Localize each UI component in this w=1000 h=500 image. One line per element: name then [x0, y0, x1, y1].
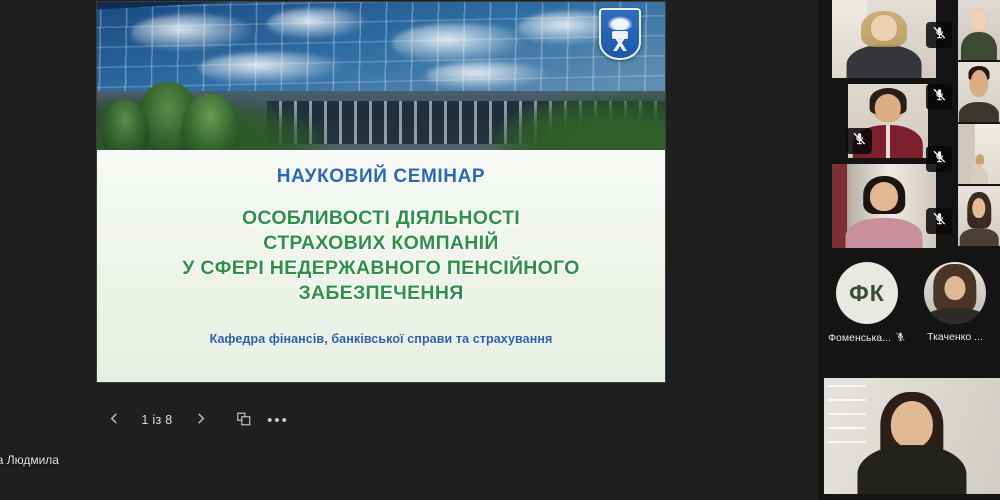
participant-video [958, 124, 1000, 184]
chevron-right-icon [193, 411, 208, 429]
slide-kicker: НАУКОВИЙ СЕМІНАР [97, 166, 665, 188]
mic-muted-badge [846, 128, 872, 154]
slide-title-line: ОСОБЛИВОСТІ ДІЯЛЬНОСТІ [107, 206, 655, 231]
slide-photo [97, 2, 665, 150]
slide-counter: 1 із 8 [131, 413, 183, 427]
participant-name-row: Ткаченко ... [914, 331, 996, 343]
participant-tile[interactable] [824, 378, 1000, 494]
participant-tile[interactable] [958, 0, 1000, 60]
shared-content-stage: НАУКОВИЙ СЕМІНАР ОСОБЛИВОСТІ ДІЯЛЬНОСТІ … [0, 0, 818, 500]
participant-tile[interactable] [958, 62, 1000, 122]
mic-muted-icon [895, 331, 906, 345]
slide-department: Кафедра фінансів, банківської справи та … [97, 332, 665, 346]
participant-video [958, 0, 1000, 60]
presenter-name-label: овцева Людмила [0, 453, 59, 467]
mic-muted-icon [932, 87, 947, 107]
slide-title-line: СТРАХОВИХ КОМПАНІЙ [107, 231, 655, 256]
slide-title-line: ЗАБЕЗПЕЧЕННЯ [107, 281, 655, 306]
participant-video [832, 0, 936, 78]
mic-muted-icon [852, 131, 867, 151]
participant-video [824, 378, 1000, 494]
slide-toolbar: 1 із 8 ••• [97, 404, 295, 436]
mic-muted-badge [926, 208, 952, 234]
participants-sidebar[interactable]: ФК Фоменська... [818, 0, 1000, 500]
previous-slide-button[interactable] [97, 404, 131, 436]
pop-out-icon [236, 411, 252, 430]
greenery-right [483, 85, 665, 150]
participant-avatar-tile[interactable]: Ткаченко ... [914, 262, 996, 343]
mic-muted-badge [926, 22, 952, 48]
mic-muted-icon [932, 211, 947, 231]
more-options-button[interactable]: ••• [261, 404, 295, 436]
participant-video [958, 186, 1000, 246]
slide-text-area: НАУКОВИЙ СЕМІНАР ОСОБЛИВОСТІ ДІЯЛЬНОСТІ … [97, 150, 665, 382]
slide-title: ОСОБЛИВОСТІ ДІЯЛЬНОСТІ СТРАХОВИХ КОМПАНІ… [97, 206, 665, 306]
participant-tile[interactable] [832, 0, 936, 78]
participant-tile[interactable] [958, 186, 1000, 246]
participant-name: Фоменська... [828, 332, 891, 344]
pop-out-slide-button[interactable] [227, 404, 261, 436]
meeting-window: НАУКОВИЙ СЕМІНАР ОСОБЛИВОСТІ ДІЯЛЬНОСТІ … [0, 0, 1000, 500]
participant-video [924, 262, 986, 324]
mic-muted-icon [932, 149, 947, 169]
next-slide-button[interactable] [183, 404, 217, 436]
mic-muted-badge [926, 146, 952, 172]
slide-title-line: У СФЕРІ НЕДЕРЖАВНОГО ПЕНСІЙНОГО [107, 256, 655, 281]
participant-name: Ткаченко ... [927, 331, 983, 343]
participant-video [958, 62, 1000, 122]
participant-tile[interactable] [832, 164, 936, 248]
shared-slide[interactable]: НАУКОВИЙ СЕМІНАР ОСОБЛИВОСТІ ДІЯЛЬНОСТІ … [97, 2, 665, 382]
participant-video [832, 164, 936, 248]
participant-tile[interactable] [958, 124, 1000, 184]
mic-muted-icon [932, 25, 947, 45]
mic-muted-badge [926, 84, 952, 110]
participant-avatar-tile[interactable]: ФК Фоменська... [828, 262, 906, 345]
avatar-initials: ФК [836, 262, 898, 324]
participant-name-row: Фоменська... [828, 331, 906, 345]
chevron-left-icon [107, 411, 122, 429]
university-crest-icon [599, 8, 641, 60]
